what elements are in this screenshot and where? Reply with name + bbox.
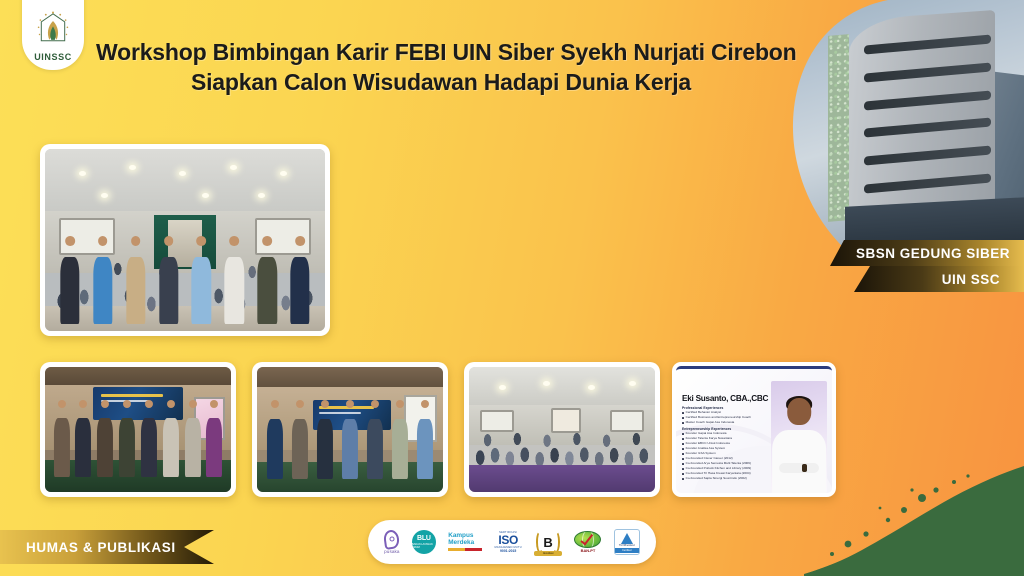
person xyxy=(366,400,383,480)
ceiling-light xyxy=(499,385,506,390)
ceiling xyxy=(45,367,231,385)
speaker-name: Eki Susanto, CBA.,CBC xyxy=(682,394,778,403)
iso-standard-number: 9001:2015 xyxy=(500,549,516,553)
institution-label: UIN SSC xyxy=(942,272,1000,287)
person xyxy=(158,236,179,323)
page-title-line-1: Workshop Bimbingan Karir FEBI UIN Siber … xyxy=(96,38,786,67)
building-mosaic-panel xyxy=(828,34,849,222)
building-caption-ribbon: SBSN GEDUNG SIBER xyxy=(830,240,1024,266)
person xyxy=(206,400,223,478)
blu-logo-subtext: BADAN LAYANAN UMUM xyxy=(412,543,436,549)
entrepreneurship-experiences-heading: Entrepreneurship Experiences xyxy=(682,427,778,431)
entrepreneurship-experiences-list: Founder Gapai Asa Indonesia Founder Tale… xyxy=(682,431,778,481)
pusaka-logo-caption: pusaka xyxy=(384,549,399,554)
portrait-head xyxy=(787,398,811,425)
iso-certification-icon: SERTIFIKASI ISO MANAJEMEN MUTU 9001:2015 xyxy=(495,531,522,554)
stage-speakers-group-photo xyxy=(252,362,448,497)
tuv-certified-bar: Certified xyxy=(615,548,639,553)
person xyxy=(92,236,113,323)
uinssc-logo-badge: UINSSC xyxy=(22,0,84,70)
iso-logo: SERTIFIKASI ISO MANAJEMEN MUTU 9001:2015 xyxy=(495,520,522,564)
kampus-merdeka-wordmark: Kampus Merdeka xyxy=(448,533,482,551)
person xyxy=(53,400,70,478)
professional-experiences-heading: Professional Experiences xyxy=(682,406,778,410)
speaker-text-column: Eki Susanto, CBA.,CBC Professional Exper… xyxy=(682,394,778,481)
ceiling-light xyxy=(629,381,636,386)
sbsn-gedung-siber-building-photo xyxy=(788,0,1024,252)
ceiling xyxy=(257,367,443,387)
person xyxy=(96,400,113,478)
akreditasi-ribbon-label: Akreditasi xyxy=(534,551,562,556)
person xyxy=(316,400,333,480)
partner-logo-strip: pusaka BLU BADAN LAYANAN UMUM Kampus Mer… xyxy=(368,520,656,564)
blu-logo-text: BLU xyxy=(417,535,431,542)
ban-pt-logo: BAN-PT xyxy=(574,520,601,564)
person xyxy=(341,400,358,480)
uinssc-emblem-icon xyxy=(35,10,71,50)
building-caption-label: SBSN GEDUNG SIBER xyxy=(856,246,1010,261)
kampus-merdeka-underline xyxy=(448,548,482,551)
audience-scene xyxy=(469,367,655,492)
page-title-line-2: Siapkan Calon Wisudawan Hadapi Dunia Ker… xyxy=(96,68,786,97)
professional-experiences-list: Certified Behavior Analyst Certified Bus… xyxy=(682,410,778,425)
person xyxy=(118,400,135,478)
list-item: Master Coach Gapai Asa Indonesia xyxy=(682,420,778,425)
page-title: Workshop Bimbingan Karir FEBI UIN Siber … xyxy=(96,38,786,96)
akreditasi-wreath-icon: B Akreditasi xyxy=(534,528,562,556)
auditorium-group-photo xyxy=(40,144,330,336)
person xyxy=(191,236,212,323)
person xyxy=(224,236,245,323)
portrait-watch xyxy=(802,464,807,472)
speaker-profile-card: Eki Susanto, CBA.,CBC Professional Exper… xyxy=(672,362,836,497)
pusaka-droplet-icon xyxy=(384,530,399,549)
person xyxy=(416,400,433,480)
ceiling xyxy=(45,149,325,211)
iso-arc-bottom: MANAJEMEN MUTU xyxy=(495,546,522,549)
purple-tablecloth xyxy=(469,465,655,493)
list-item: Co-Founded Sapta Sinergi Sourcindo (2002… xyxy=(682,476,778,481)
front-row-people xyxy=(51,400,226,478)
person xyxy=(391,400,408,480)
iso-logo-text: ISO xyxy=(498,534,517,546)
person xyxy=(125,236,146,323)
ceiling-light xyxy=(280,171,287,176)
photo-inner xyxy=(45,149,325,331)
person xyxy=(266,400,283,480)
department-label: HUMAS & PUBLIKASI xyxy=(26,540,176,555)
portrait-body xyxy=(772,430,826,493)
ban-pt-label: BAN-PT xyxy=(581,548,596,553)
ban-pt-globe-icon: BAN-PT xyxy=(574,531,601,554)
front-row-people xyxy=(263,400,438,480)
blu-badge-icon: BLU BADAN LAYANAN UMUM xyxy=(412,530,436,554)
akreditasi-b-logo: B Akreditasi xyxy=(534,520,562,564)
pusaka-logo: pusaka xyxy=(384,520,399,564)
photo-inner xyxy=(45,367,231,492)
photo-inner xyxy=(469,367,655,492)
hall-scene xyxy=(45,367,231,492)
slide-inner: Eki Susanto, CBA.,CBC Professional Exper… xyxy=(676,366,832,493)
portrait-arms xyxy=(779,463,819,473)
ceiling-light xyxy=(588,385,595,390)
person xyxy=(290,236,311,323)
plaque-handover-group-photo xyxy=(40,362,236,497)
kampus-merdeka-logo: Kampus Merdeka xyxy=(448,520,482,564)
ceiling-light xyxy=(258,193,265,198)
ceiling xyxy=(469,367,655,405)
department-ribbon: HUMAS & PUBLIKASI xyxy=(0,530,214,564)
person xyxy=(59,236,80,323)
audience-standing-photo xyxy=(464,362,660,497)
blu-logo: BLU BADAN LAYANAN UMUM xyxy=(412,520,436,564)
speaker-portrait xyxy=(771,381,827,493)
person xyxy=(257,236,278,323)
person xyxy=(75,400,92,478)
institution-ribbon: UIN SSC xyxy=(854,266,1024,292)
auditorium-scene xyxy=(45,149,325,331)
ceiling-light xyxy=(101,193,108,198)
front-row-people xyxy=(53,236,316,323)
kampus-merdeka-line-2: Merdeka xyxy=(448,540,474,546)
person xyxy=(162,400,179,478)
stage-scene xyxy=(257,367,443,492)
tuv-rheinland-logo: TÜVRheinland Certified xyxy=(614,520,640,564)
ceiling-light xyxy=(202,193,209,198)
photo-inner xyxy=(257,367,443,492)
tuv-brand-text: TÜVRheinland xyxy=(619,544,635,547)
uinssc-wordmark: UINSSC xyxy=(34,52,72,62)
green-splatter-decoration xyxy=(804,446,1024,576)
ceiling-light xyxy=(79,171,86,176)
tuv-rheinland-icon: TÜVRheinland Certified xyxy=(614,529,640,555)
person xyxy=(291,400,308,480)
person xyxy=(184,400,201,478)
person xyxy=(140,400,157,478)
